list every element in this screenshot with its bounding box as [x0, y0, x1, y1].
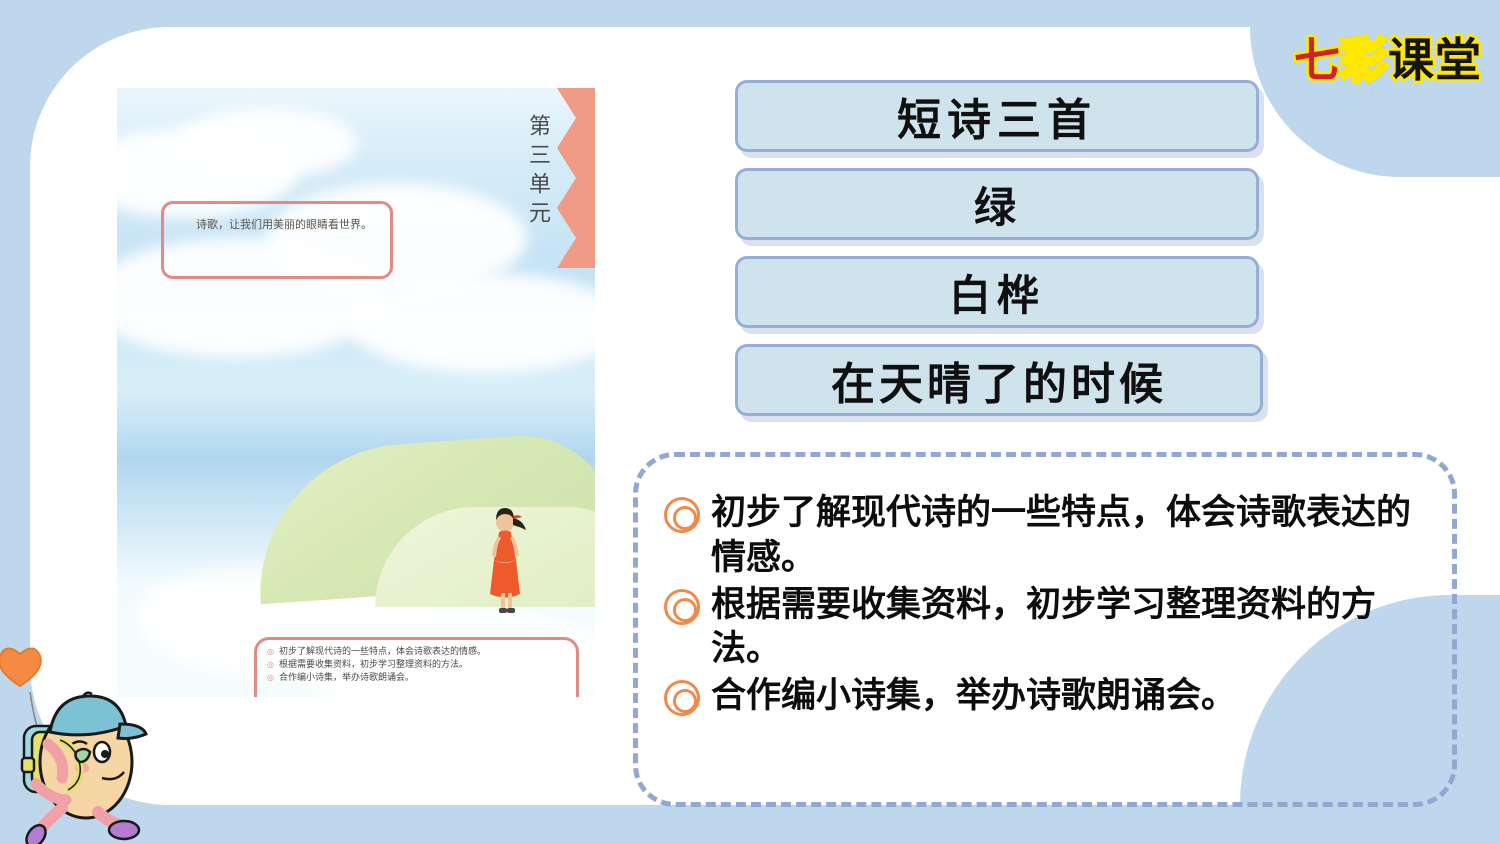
textbook-goal-text: 根据需要收集资料，初步学习整理资料的方法。: [279, 660, 468, 670]
cloud-shape: [347, 273, 595, 373]
textbook-goal-text: 初步了解现代诗的一些特点，体会诗歌表达的情感。: [279, 647, 486, 657]
logo-char-qi: 七: [1294, 33, 1341, 87]
heart-balloon-icon: [0, 648, 41, 686]
logo-text-ketang: 课堂: [1388, 33, 1482, 87]
unit-goals-box: 初步了解现代诗的一些特点，体会诗歌表达的情感。 根据需要收集资料，初步学习整理资…: [633, 452, 1457, 807]
goal-text: 根据需要收集资料，初步学习整理资料的方法。: [711, 583, 1418, 673]
textbook-goal-item: ◎初步了解现代诗的一些特点，体会诗歌表达的情感。: [267, 646, 576, 659]
unit-label: 第三单元: [521, 114, 553, 230]
lesson-title-4[interactable]: 在天晴了的时候: [735, 344, 1263, 416]
bullet-icon: ◎: [267, 647, 274, 656]
goal-item: 初步了解现代诗的一些特点，体会诗歌表达的情感。: [664, 491, 1418, 581]
goal-bullet-icon: [664, 589, 700, 625]
unit-banner-chevron: [557, 88, 595, 268]
lesson-title-3[interactable]: 白桦: [735, 256, 1259, 328]
cloud-shape: [177, 108, 357, 178]
textbook-goal-item: ◎合作编小诗集，举办诗歌朗诵会。: [267, 672, 576, 685]
textbook-goal-item: ◎根据需要收集资料，初步学习整理资料的方法。: [267, 659, 576, 672]
goal-bullet-icon: [664, 680, 700, 716]
lesson-title-1[interactable]: 短诗三首: [735, 80, 1259, 152]
textbook-goal-text: 合作编小诗集，举办诗歌朗诵会。: [279, 673, 414, 683]
mascot-shoe: [109, 821, 139, 839]
lesson-title-list: 短诗三首 绿 白桦 在天晴了的时候: [735, 80, 1263, 432]
logo-char-cai: 彩: [1341, 33, 1388, 87]
goal-item: 合作编小诗集，举办诗歌朗诵会。: [664, 674, 1418, 719]
girl-illustration: [477, 506, 533, 622]
textbook-goals-box: ◎初步了解现代诗的一些特点，体会诗歌表达的情感。 ◎根据需要收集资料，初步学习整…: [254, 637, 579, 697]
quote-box: 诗歌，让我们用美丽的眼睛看世界。: [161, 201, 393, 279]
goal-bullet-icon: [664, 497, 700, 533]
mascot-character: [0, 640, 148, 844]
brand-logo: 七彩课堂: [1294, 24, 1482, 90]
goal-text: 初步了解现代诗的一些特点，体会诗歌表达的情感。: [711, 491, 1418, 581]
goal-text: 合作编小诗集，举办诗歌朗诵会。: [711, 674, 1418, 719]
bullet-icon: ◎: [267, 660, 274, 669]
textbook-page-image: 第三单元 诗歌，让我们用美丽的眼睛看世界。 ◎初步了解现代诗的一些特点，体会诗歌…: [117, 88, 595, 697]
cap-icon: [50, 696, 126, 735]
goal-item: 根据需要收集资料，初步学习整理资料的方法。: [664, 583, 1418, 673]
lesson-title-2[interactable]: 绿: [735, 168, 1259, 240]
bullet-icon: ◎: [267, 673, 274, 682]
quote-text: 诗歌，让我们用美丽的眼睛看世界。: [174, 215, 382, 235]
